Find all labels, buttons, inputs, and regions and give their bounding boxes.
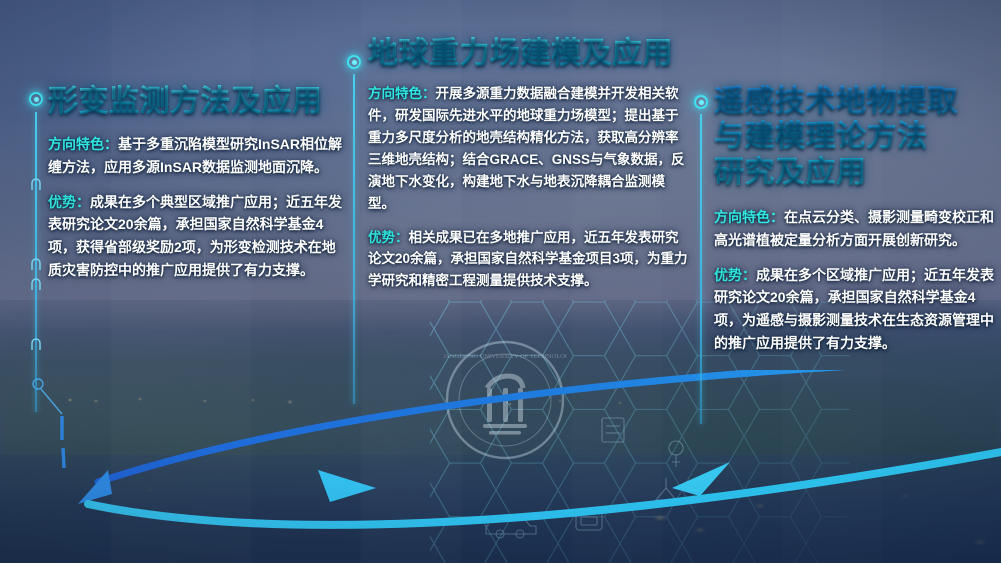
hook-icon-2: [29, 258, 43, 270]
section-text: 成果在多个区域推广应用；近五年发表研究论文20余篇，承担国家自然科学基金4项，为…: [714, 267, 994, 351]
section-label: 方向特色：: [48, 136, 118, 152]
section-text: 相关成果已在多地推广应用，近五年发表研究论文20余篇，承担国家自然科学基金项目3…: [368, 230, 688, 289]
section-label: 方向特色：: [368, 86, 436, 101]
marker-line-gravity: [353, 74, 355, 404]
column-remote-sensing: 遥感技术地物提取 与建模理论方法 研究及应用 方向特色：在点云分类、摄影测量畸变…: [714, 84, 994, 366]
column-section-advantage-gravity: 优势：相关成果已在多地推广应用，近五年发表研究论文20余篇，承担国家自然科学基金…: [368, 227, 688, 293]
column-deformation: 形变监测方法及应用 方向特色：基于多重沉陷模型研究InSAR相位解缠方法，应用多…: [48, 84, 348, 293]
column-title-remote-sensing: 遥感技术地物提取 与建模理论方法 研究及应用: [714, 84, 994, 190]
marker-dot-remote-sensing: [694, 95, 708, 109]
section-text: 成果在多个典型区域推广应用；近五年发表研究论文20余篇，承担国家自然科学基金4项…: [48, 194, 342, 278]
marker-dot-gravity: [347, 55, 361, 69]
hook-icon-4: [29, 338, 43, 350]
column-title-deformation: 形变监测方法及应用: [48, 84, 348, 119]
column-section-advantage-deformation: 优势：成果在多个典型区域推广应用；近五年发表研究论文20余篇，承担国家自然科学基…: [48, 191, 348, 282]
column-section-feature-gravity: 方向特色：开展多源重力数据融合建模并开发相关软件，研发国际先进水平的地球重力场模…: [368, 83, 688, 214]
section-text: 开展多源重力数据融合建模并开发相关软件，研发国际先进水平的地球重力场模型；提出基…: [368, 86, 685, 210]
hook-icon-3: [29, 278, 43, 290]
column-title-gravity: 地球重力场建模及应用: [368, 36, 688, 71]
section-label: 优势：: [714, 267, 756, 283]
section-label: 方向特色：: [714, 209, 784, 225]
hook-icon-1: [29, 178, 43, 190]
svg-text:GUANGDONG UNIVERSITY OF TECHNO: GUANGDONG UNIVERSITY OF TECHNOLOGY: [443, 353, 567, 360]
column-section-feature-remote-sensing: 方向特色：在点云分类、摄影测量畸变校正和高光谱植被定量分析方面开展创新研究。: [714, 206, 994, 251]
arrow-swooshes: [0, 370, 1001, 563]
slide-root: GUANGDONG UNIVERSITY OF TECHNOLOGY: [0, 0, 1001, 563]
column-section-feature-deformation: 方向特色：基于多重沉陷模型研究InSAR相位解缠方法，应用多源InSAR数据监测…: [48, 133, 348, 178]
column-gravity: 地球重力场建模及应用 方向特色：开展多源重力数据融合建模并开发相关软件，研发国际…: [368, 36, 688, 304]
section-label: 优势：: [368, 230, 409, 245]
marker-dot-deformation: [29, 92, 43, 106]
marker-line-remote-sensing: [700, 114, 702, 424]
section-label: 优势：: [48, 194, 90, 210]
column-section-advantage-remote-sensing: 优势：成果在多个区域推广应用；近五年发表研究论文20余篇，承担国家自然科学基金4…: [714, 264, 994, 355]
